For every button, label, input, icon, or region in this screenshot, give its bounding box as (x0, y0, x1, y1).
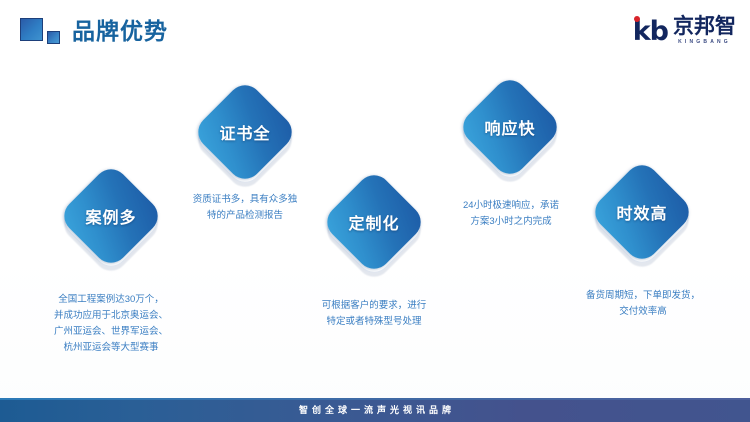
slide-canvas: 品牌优势 kb 京邦智 KINGBANG 案例多 全国工程案例达30万个， 并成… (0, 0, 750, 422)
logo-name-cn: 京邦智 (673, 16, 736, 37)
diamond-shape-1: 案例多 (57, 162, 165, 270)
page-title: 品牌优势 (72, 15, 168, 47)
advantage-desc-5: 备货周期短，下单即发货， 交付效率高 (548, 288, 738, 320)
decorative-square-small-icon (47, 31, 60, 44)
logo-mark: kb (633, 18, 668, 45)
advantage-item-4[interactable]: 响应快 (456, 73, 564, 181)
advantage-desc-4: 24小时极速响应，承诺 方案3小时之内完成 (418, 198, 604, 230)
diamond-shape-4: 响应快 (456, 73, 564, 181)
slide-footer: 智创全球一流声光视讯品牌 (0, 398, 750, 422)
advantage-label-1: 案例多 (57, 162, 165, 270)
diamond-shape-2: 证书全 (191, 78, 299, 186)
advantage-desc-2: 资质证书多，具有众多独 特的产品检测报告 (152, 192, 338, 224)
logo-name-en: KINGBANG (673, 38, 736, 46)
advantage-label-3: 定制化 (320, 168, 428, 276)
decorative-square-large-icon (20, 18, 43, 41)
advantage-label-2: 证书全 (191, 78, 299, 186)
footer-slogan: 智创全球一流声光视讯品牌 (295, 398, 455, 422)
advantage-desc-1: 全国工程案例达30万个， 并成功应用于北京奥运会、 广州亚运会、世界军运会、 杭… (15, 292, 207, 356)
advantage-item-2[interactable]: 证书全 (191, 78, 299, 186)
logo-name-block: 京邦智 KINGBANG (673, 16, 736, 46)
footer-accent-line (0, 398, 750, 400)
brand-logo: kb 京邦智 KINGBANG (633, 14, 736, 48)
advantage-item-5[interactable]: 时效高 (588, 158, 696, 266)
logo-red-dot-icon (634, 16, 640, 22)
advantage-label-5: 时效高 (588, 158, 696, 266)
diamond-shape-5: 时效高 (588, 158, 696, 266)
advantage-desc-3: 可根据客户的要求，进行 特定或者特殊型号处理 (281, 298, 467, 330)
advantage-label-4: 响应快 (456, 73, 564, 181)
advantage-item-1[interactable]: 案例多 (57, 162, 165, 270)
diamond-shape-3: 定制化 (320, 168, 428, 276)
slide-header: 品牌优势 kb 京邦智 KINGBANG (0, 0, 750, 62)
advantage-item-3[interactable]: 定制化 (320, 168, 428, 276)
